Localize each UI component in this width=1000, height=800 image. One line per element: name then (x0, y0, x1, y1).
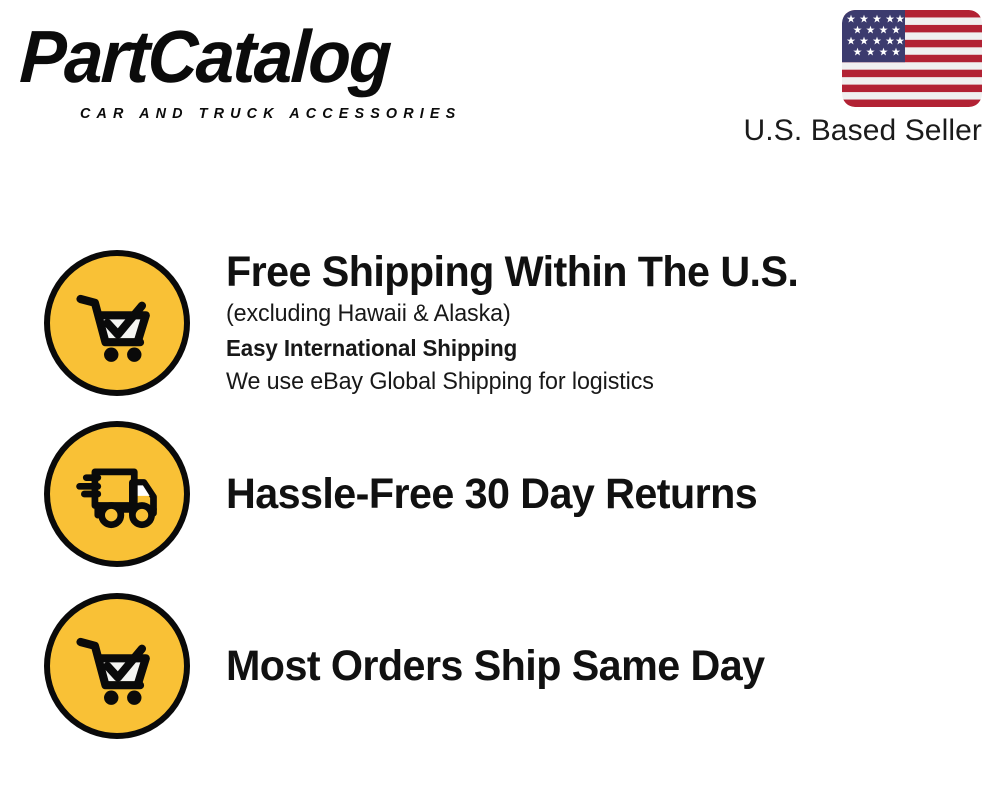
feature-subtext-bold: Easy International Shipping (226, 331, 957, 365)
page-header: PartCatalog CAR AND TRUCK ACCESSORIES (0, 0, 1000, 170)
brand-logo[interactable]: PartCatalog CAR AND TRUCK ACCESSORIES (22, 18, 492, 118)
feature-subtext: (excluding Hawaii & Alaska) (226, 297, 957, 331)
shopping-cart-check-icon (44, 593, 190, 739)
feature-text: Hassle-Free 30 Day Returns (226, 469, 1000, 519)
shopping-cart-check-icon (44, 250, 190, 396)
brand-wordmark: PartCatalog (18, 18, 392, 96)
feature-text: Free Shipping Within The U.S. (excluding… (226, 247, 1000, 399)
feature-text: Most Orders Ship Same Day (226, 641, 1000, 691)
feature-subtext: We use eBay Global Shipping for logistic… (226, 365, 957, 399)
us-based-seller-badge: U.S. Based Seller (712, 10, 982, 149)
seller-label: U.S. Based Seller (712, 113, 982, 149)
delivery-truck-icon (44, 421, 190, 567)
us-flag-icon (842, 10, 982, 107)
feature-heading: Hassle-Free 30 Day Returns (226, 469, 950, 519)
feature-row: Hassle-Free 30 Day Returns (0, 413, 1000, 575)
feature-row: Most Orders Ship Same Day (0, 585, 1000, 747)
feature-heading: Most Orders Ship Same Day (226, 641, 950, 691)
brand-tagline: CAR AND TRUCK ACCESSORIES (80, 106, 461, 122)
feature-row: Free Shipping Within The U.S. (excluding… (0, 242, 1000, 404)
feature-heading: Free Shipping Within The U.S. (226, 247, 950, 297)
